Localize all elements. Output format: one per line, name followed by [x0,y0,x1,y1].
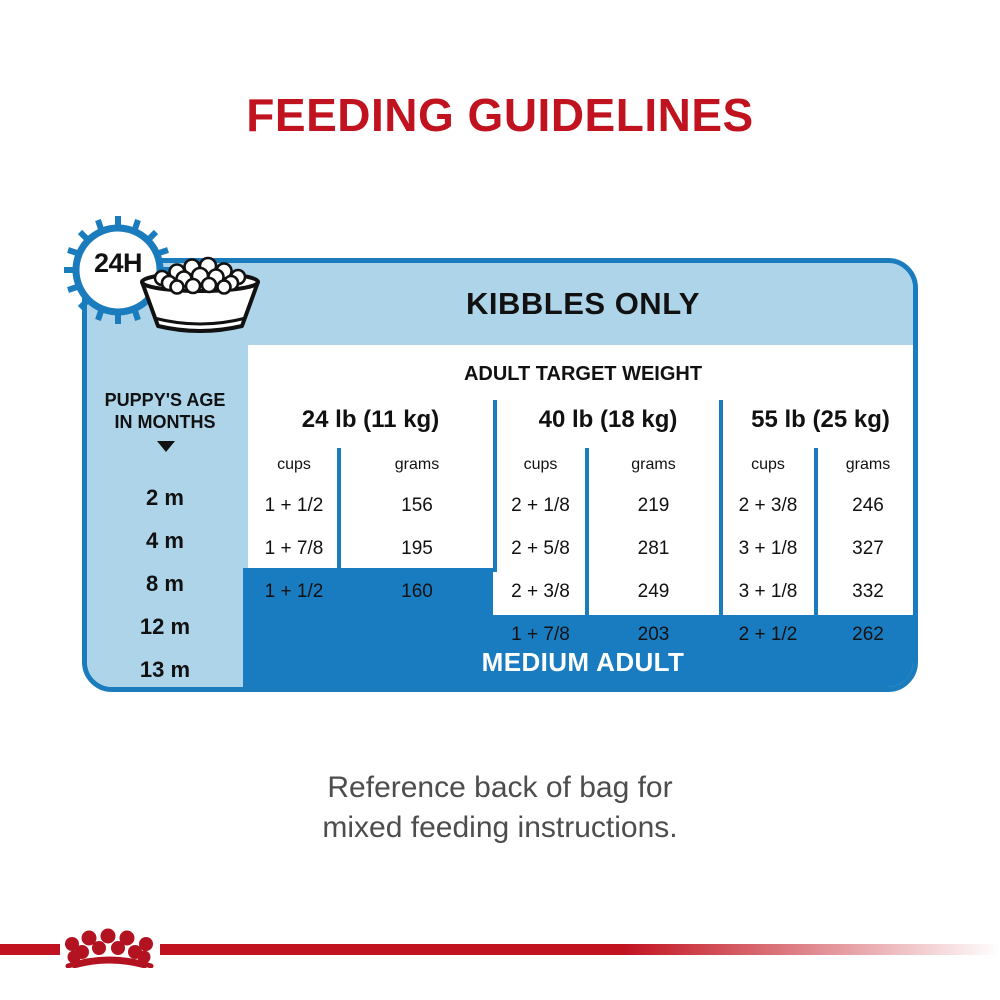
unit-header-24lb-cups: cups [252,456,336,474]
age-row-8m: 8 m [87,571,243,597]
adult-target-weight-title: ADULT TARGET WEIGHT [248,363,918,386]
kibbles-only-label: KIBBLES ONLY [466,286,700,322]
cell-8m-24lb-grams: 160 [342,581,492,603]
cell-12m-55lb-grams: 262 [818,624,918,646]
cell-8m-55lb-cups: 3 + 1/8 [723,581,813,603]
kibble-bowl-icon [136,252,264,336]
cell-2m-40lb-grams: 219 [589,495,718,517]
age-row-12m: 12 m [87,614,243,640]
feeding-guidelines-page: FEEDING GUIDELINES KIBBLES ONLY MEDIUM A… [0,0,1000,1000]
cell-4m-55lb-grams: 327 [818,538,918,560]
cell-12m-40lb-cups: 1 + 7/8 [497,624,584,646]
kibbles-only-band: KIBBLES ONLY [243,263,918,345]
divider-24lb-cups-grams [337,448,341,570]
unit-header-40lb-cups: cups [497,456,584,474]
unit-header-55lb-grams: grams [818,456,918,474]
cell-4m-24lb-cups: 1 + 7/8 [252,538,336,560]
cell-4m-40lb-grams: 281 [589,538,718,560]
cell-12m-55lb-cups: 2 + 1/2 [723,624,813,646]
age-row-4m: 4 m [87,528,243,554]
cell-2m-40lb-cups: 2 + 1/8 [497,495,584,517]
red-rule-right [160,944,1000,955]
cell-4m-55lb-cups: 3 + 1/8 [723,538,813,560]
brand-footer-bar [0,928,1000,968]
red-rule-left [0,944,60,955]
page-title: FEEDING GUIDELINES [0,88,1000,142]
weight-group-header-40lb: 40 lb (18 kg) [497,406,719,434]
age-row-13m: 13 m [87,657,243,683]
cell-8m-40lb-grams: 249 [589,581,718,603]
unit-header-40lb-grams: grams [589,456,718,474]
medium-adult-label: MEDIUM ADULT [243,647,918,678]
cell-2m-24lb-grams: 156 [342,495,492,517]
cell-2m-24lb-cups: 1 + 1/2 [252,495,336,517]
24h-badge-group: 24H [56,210,266,335]
cell-8m-40lb-cups: 2 + 3/8 [497,581,584,603]
cell-8m-55lb-grams: 332 [818,581,918,603]
weight-group-header-24lb: 24 lb (11 kg) [248,406,493,434]
royal-canin-crown-icon [58,928,162,968]
cell-4m-24lb-grams: 195 [342,538,492,560]
chevron-down-icon [157,441,175,452]
puppy-age-header: PUPPY'S AGE IN MONTHS [87,389,243,433]
cell-8m-24lb-cups: 1 + 1/2 [252,581,336,603]
cell-2m-55lb-grams: 246 [818,495,918,517]
cell-4m-40lb-cups: 2 + 5/8 [497,538,584,560]
unit-header-24lb-grams: grams [342,456,492,474]
cell-12m-40lb-grams: 203 [589,624,718,646]
weight-group-header-55lb: 55 lb (25 kg) [723,406,918,434]
unit-header-55lb-cups: cups [723,456,813,474]
cell-2m-55lb-cups: 2 + 3/8 [723,495,813,517]
footer-note: Reference back of bag for mixed feeding … [0,768,1000,848]
age-row-2m: 2 m [87,485,243,511]
